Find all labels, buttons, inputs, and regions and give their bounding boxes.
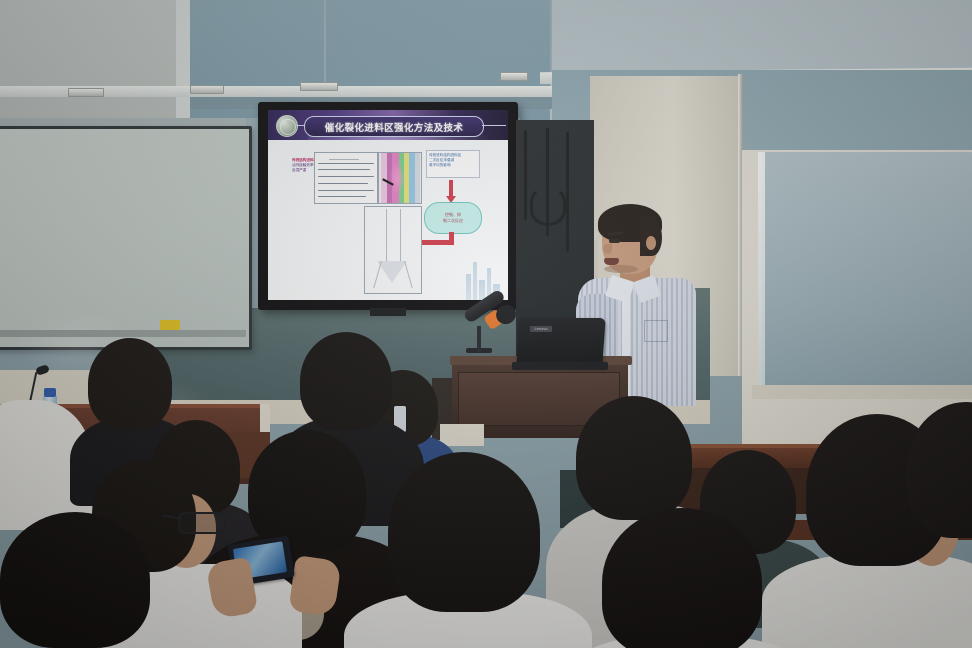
coiled-cable — [530, 186, 566, 226]
riser-reactor-panel — [364, 206, 422, 294]
display-mount — [370, 308, 406, 316]
hanging-cable — [524, 130, 527, 220]
presentation-slide: 催化裂化进料区强化方法及技术 传统结构进料段 油剂接触效率低 返混严重 — [268, 110, 508, 300]
presenter-ear — [646, 236, 656, 250]
ceiling-seam — [324, 0, 326, 86]
title-rule-right — [482, 125, 506, 126]
laptop-base — [512, 362, 608, 370]
water-bottle-cap — [44, 388, 56, 397]
slide-body: 传统结构进料段 油剂接触效率低 返混严重 — [268, 140, 508, 300]
result-line2: 制二次反应 — [443, 218, 463, 224]
shirt-pocket — [644, 320, 668, 342]
presenter-mouth — [604, 258, 619, 265]
flow-arrow-down-icon — [449, 180, 453, 196]
marker-pen[interactable] — [160, 320, 180, 330]
eyeglasses — [178, 512, 226, 534]
whiteboard[interactable] — [0, 126, 252, 350]
window-sill — [752, 385, 972, 399]
laptop-brand-label: Lenovo — [530, 326, 552, 332]
right-annotation-line3: 难不均的影响 — [429, 163, 461, 168]
result-callout-bubble: 控制、抑 制二次反应 — [424, 202, 482, 234]
ceiling-light-fixture — [190, 85, 224, 94]
slide-title-pill: 催化裂化进料区强化方法及技术 — [304, 116, 484, 137]
logo-inner-ring — [280, 119, 296, 135]
podium-base-shadow — [440, 424, 484, 446]
ceiling-panel-divider — [176, 0, 190, 122]
riser-tube — [386, 209, 401, 261]
profile-chart-panel — [314, 152, 378, 204]
whiteboard-ledge — [0, 330, 246, 337]
cfd-contour-panel — [378, 152, 422, 204]
presenter-eye — [609, 239, 620, 243]
university-seal-logo — [276, 115, 298, 137]
ceiling-seam — [550, 0, 552, 74]
lecture-hall-photo: 催化裂化进料区强化方法及技术 传统结构进料段 油剂接触效率低 返混严重 — [0, 0, 972, 648]
window-blind-highlight — [758, 152, 765, 387]
ceiling-light-fixture — [68, 88, 104, 97]
slide-title: 催化裂化进料区强化方法及技术 — [325, 120, 464, 134]
riser-cone — [377, 261, 407, 283]
presenter-nose — [603, 244, 612, 254]
ceiling-light-fixture — [300, 82, 338, 91]
flow-arrow-left-icon — [420, 240, 454, 245]
presenter-chin-shadow — [604, 265, 638, 273]
display-screen: 催化裂化进料区强化方法及技术 传统结构进料段 油剂接触效率低 返混严重 — [268, 110, 508, 300]
microphone-stand-pole — [477, 326, 481, 352]
ceiling-panel-left — [0, 0, 176, 122]
hanging-cable — [566, 132, 569, 252]
window-blind[interactable] — [762, 152, 972, 387]
slide-right-annotation: 传统进料结构进料区 二次反应未衰减 难不均的影响 — [429, 153, 461, 168]
ceiling-light-fixture — [500, 72, 528, 81]
